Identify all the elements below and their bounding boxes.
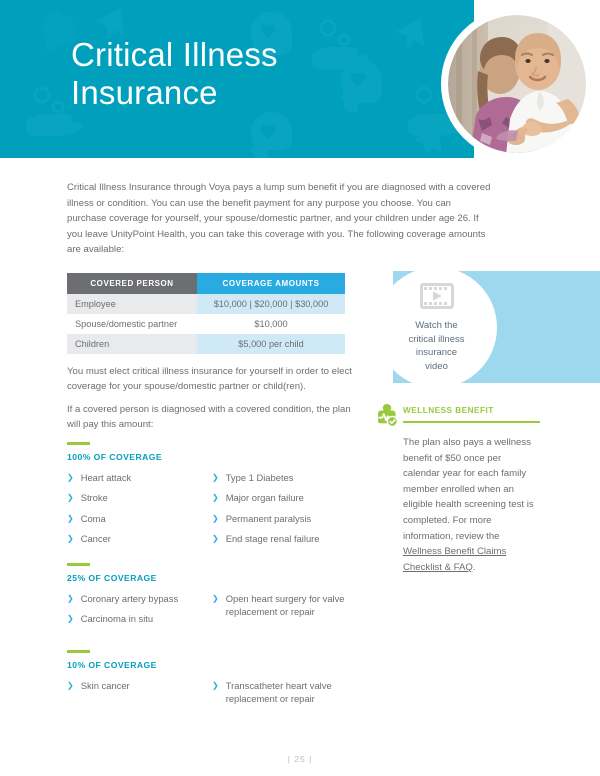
table-header-row: COVERED PERSON COVERAGE AMOUNTS <box>67 273 345 294</box>
section-accent-bar <box>67 650 90 653</box>
page-title: Critical Illness Insurance <box>71 36 278 112</box>
table-row: Spouse/domestic partner $10,000 <box>67 314 345 334</box>
list-item: ❯Type 1 Diabetes <box>212 471 357 485</box>
video-callout[interactable]: Watch the critical illness insurance vid… <box>376 267 497 388</box>
list-item-label: Heart attack <box>81 471 212 485</box>
wellness-body-text-end: . <box>473 562 476 573</box>
section-coverage-100: 100% OF COVERAGE ❯Heart attack ❯Stroke ❯… <box>67 442 357 553</box>
list-item-label: Coronary artery bypass <box>81 592 212 606</box>
hand-coins-icon <box>312 21 370 69</box>
table-cell-amount: $10,000 <box>197 314 345 334</box>
chevron-right-icon: ❯ <box>212 512 219 526</box>
section-columns: ❯Skin cancer ❯Transcatheter heart valve … <box>67 679 357 713</box>
video-callout-label: Watch the critical illness insurance vid… <box>409 319 465 373</box>
section-coverage-25: 25% OF COVERAGE ❯Coronary artery bypass … <box>67 563 357 633</box>
section-coverage-10: 10% OF COVERAGE ❯Skin cancer ❯Transcathe… <box>67 650 357 713</box>
wellness-benefit-body: The plan also pays a wellness benefit of… <box>403 435 540 575</box>
table-header-covered-person: COVERED PERSON <box>67 273 197 294</box>
list-item: ❯Coma <box>67 512 212 526</box>
list-item: ❯Major organ failure <box>212 491 357 505</box>
list-item-label: Open heart surgery for valve replacement… <box>226 592 357 619</box>
wellness-benefit-callout: WELLNESS BENEFIT The plan also pays a we… <box>376 403 540 575</box>
table-cell-person: Children <box>67 334 197 354</box>
wellness-benefit-link[interactable]: Wellness Benefit Claims Checklist & FAQ <box>403 546 506 573</box>
page-header: Critical Illness Insurance <box>0 0 474 158</box>
wellness-benefit-divider <box>403 421 540 423</box>
section-columns: ❯Heart attack ❯Stroke ❯Coma ❯Cancer ❯Typ… <box>67 471 357 553</box>
section-column-1: ❯Skin cancer <box>67 679 212 713</box>
table-cell-person: Spouse/domestic partner <box>67 314 197 334</box>
chevron-right-icon: ❯ <box>67 592 74 606</box>
list-item-label: Major organ failure <box>226 491 357 505</box>
table-cell-amount: $5,000 per child <box>197 334 345 354</box>
intro-paragraph: Critical Illness Insurance through Voya … <box>67 180 492 258</box>
chevron-right-icon: ❯ <box>212 491 219 505</box>
list-item: ❯Cancer <box>67 532 212 546</box>
table-cell-person: Employee <box>67 294 197 314</box>
list-item: ❯Carcinoma in situ <box>67 612 212 626</box>
list-item-label: Cancer <box>81 532 212 546</box>
wellness-body-text: The plan also pays a wellness benefit of… <box>403 437 534 542</box>
chevron-right-icon: ❯ <box>212 532 219 546</box>
section-title: 10% OF COVERAGE <box>67 660 357 670</box>
chevron-right-icon: ❯ <box>67 491 74 505</box>
section-title: 100% OF COVERAGE <box>67 452 357 462</box>
section-title: 25% OF COVERAGE <box>67 573 357 583</box>
elect-note-paragraph: You must elect critical illness insuranc… <box>67 364 357 395</box>
header-photo <box>448 15 586 153</box>
wellness-check-icon <box>376 403 398 432</box>
list-item-label: Permanent paralysis <box>226 512 357 526</box>
list-item-label: Transcatheter heart valve replacement or… <box>226 679 357 706</box>
chevron-right-icon: ❯ <box>67 612 74 626</box>
section-columns: ❯Coronary artery bypass ❯Carcinoma in si… <box>67 592 357 633</box>
header-photo-frame <box>441 8 593 160</box>
list-item: ❯Heart attack <box>67 471 212 485</box>
page-footer: | 25 | <box>0 754 600 764</box>
list-item-label: Type 1 Diabetes <box>226 471 357 485</box>
list-item: ❯Skin cancer <box>67 679 212 693</box>
chevron-right-icon: ❯ <box>67 532 74 546</box>
section-column-1: ❯Heart attack ❯Stroke ❯Coma ❯Cancer <box>67 471 212 553</box>
wellness-benefit-header: WELLNESS BENEFIT <box>376 403 540 431</box>
list-item-label: Skin cancer <box>81 679 212 693</box>
list-item: ❯Transcatheter heart valve replacement o… <box>212 679 357 706</box>
table-row: Children $5,000 per child <box>67 334 345 354</box>
section-column-2: ❯Open heart surgery for valve replacemen… <box>212 592 357 633</box>
table-header-coverage-amounts: COVERAGE AMOUNTS <box>197 273 345 294</box>
list-item-label: Coma <box>81 512 212 526</box>
diagnosis-note-paragraph: If a covered person is diagnosed with a … <box>67 402 357 433</box>
list-item-label: Carcinoma in situ <box>81 612 212 626</box>
coverage-amounts-table: COVERED PERSON COVERAGE AMOUNTS Employee… <box>67 273 345 354</box>
paper-plane-icon <box>96 8 124 38</box>
table-cell-amount: $10,000 | $20,000 | $30,000 <box>197 294 345 314</box>
table-row: Employee $10,000 | $20,000 | $30,000 <box>67 294 345 314</box>
section-accent-bar <box>67 442 90 445</box>
section-accent-bar <box>67 563 90 566</box>
list-item-label: End stage renal failure <box>226 532 357 546</box>
chevron-right-icon: ❯ <box>212 592 219 606</box>
chevron-right-icon: ❯ <box>212 471 219 485</box>
paper-plane-icon <box>396 18 424 48</box>
list-item: ❯Open heart surgery for valve replacemen… <box>212 592 357 619</box>
list-item-label: Stroke <box>81 491 212 505</box>
section-column-1: ❯Coronary artery bypass ❯Carcinoma in si… <box>67 592 212 633</box>
chevron-right-icon: ❯ <box>67 471 74 485</box>
wellness-benefit-title: WELLNESS BENEFIT <box>403 406 494 415</box>
chevron-right-icon: ❯ <box>67 679 74 693</box>
section-column-2: ❯Type 1 Diabetes ❯Major organ failure ❯P… <box>212 471 357 553</box>
list-item: ❯Permanent paralysis <box>212 512 357 526</box>
list-item: ❯Coronary artery bypass <box>67 592 212 606</box>
list-item: ❯Stroke <box>67 491 212 505</box>
chevron-right-icon: ❯ <box>212 679 219 693</box>
chevron-right-icon: ❯ <box>67 512 74 526</box>
video-film-play-icon <box>420 283 454 314</box>
head-heart-icon <box>250 112 292 158</box>
section-column-2: ❯Transcatheter heart valve replacement o… <box>212 679 357 713</box>
list-item: ❯End stage renal failure <box>212 532 357 546</box>
